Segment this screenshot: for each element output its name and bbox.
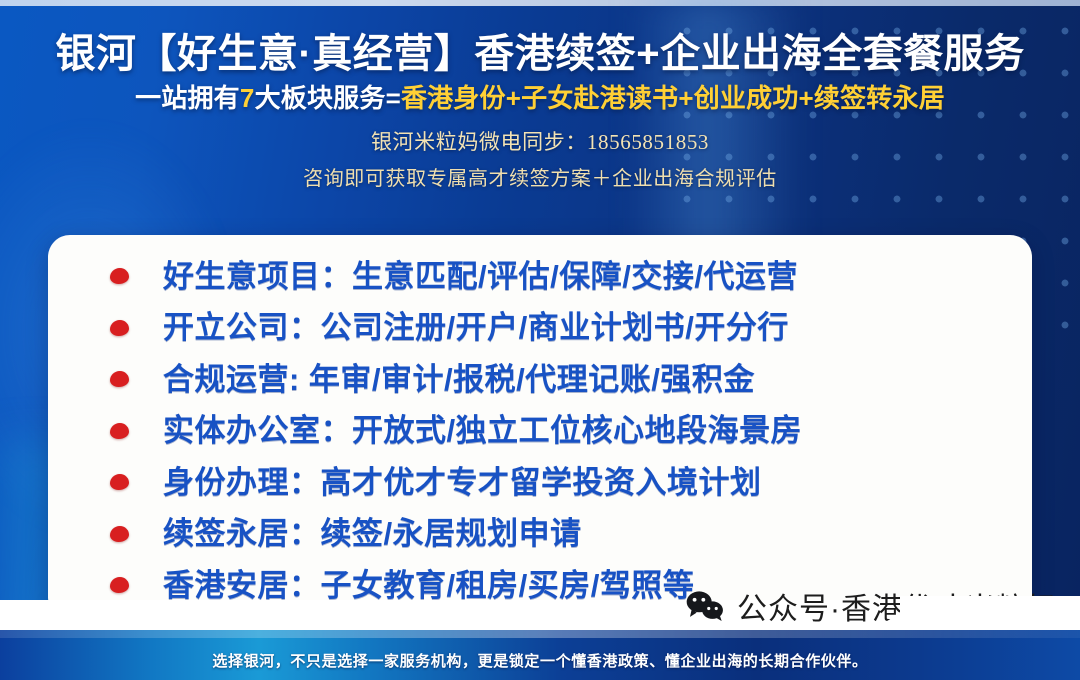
list-item-label: 续签永居：续签/永居规划申请 (163, 518, 582, 549)
list-item-label: 好生意项目：生意匹配/评估/保障/交接/代运营 (163, 261, 798, 292)
bullet-icon (110, 320, 129, 336)
list-item-label: 合规运营: 年审/审计/报税/代理记账/强积金 (163, 364, 755, 395)
bullet-icon (110, 268, 129, 284)
footer-tagline: 选择银河，不只是选择一家服务机构，更是锁定一个懂香港政策、懂企业出海的长期合作伙… (0, 630, 1080, 680)
footer-blue-band: 选择银河，不只是选择一家服务机构，更是锁定一个懂香港政策、懂企业出海的长期合作伙… (0, 630, 1080, 680)
bullet-icon (110, 423, 129, 439)
list-item: 开立公司：公司注册/开户/商业计划书/开分行 (48, 303, 1032, 353)
list-item-label: 开立公司：公司注册/开户/商业计划书/开分行 (163, 312, 789, 343)
list-item: 好生意项目：生意匹配/评估/保障/交接/代运营 (48, 251, 1032, 301)
subtitle-count: 7 (240, 83, 255, 113)
subtitle-benefits: 香港身份+子女赴港读书+创业成功+续签转永居 (401, 83, 945, 113)
bullet-icon (110, 474, 129, 490)
wechat-icon (685, 591, 725, 621)
list-item-label: 实体办公室：开放式/独立工位核心地段海景房 (163, 415, 802, 446)
footer-corner-curve (900, 596, 1080, 630)
page-title: 银河【好生意·真经营】香港续签+企业出海全套餐服务 (0, 32, 1080, 77)
list-item: 身份办理：高才优才专才留学投资入境计划 (48, 457, 1032, 507)
bullet-icon (110, 526, 129, 542)
list-item-label: 香港安居：子女教育/租房/买房/驾照等 (163, 570, 694, 601)
offer-line: 咨询即可获取专属高才续签方案＋企业出海合规评估 (0, 162, 1080, 191)
footer-tagline-text: 选择银河，不只是选择一家服务机构，更是锁定一个懂香港政策、懂企业出海的长期合作伙… (212, 650, 867, 671)
bullet-icon (110, 577, 129, 593)
list-item: 合规运营: 年审/审计/报税/代理记账/强积金 (48, 354, 1032, 404)
list-item: 实体办公室：开放式/独立工位核心地段海景房 (48, 406, 1032, 456)
subtitle: 一站拥有7大板块服务=香港身份+子女赴港读书+创业成功+续签转永居 (0, 84, 1080, 114)
subtitle-part-2: 大板块服务= (255, 83, 401, 113)
list-item-label: 身份办理：高才优才专才留学投资入境计划 (163, 467, 762, 498)
list-item: 续签永居：续签/永居规划申请 (48, 509, 1032, 559)
bullet-icon (110, 371, 129, 387)
header: 银河【好生意·真经营】香港续签+企业出海全套餐服务 一站拥有7大板块服务=香港身… (0, 0, 1080, 191)
service-list-card: 好生意项目：生意匹配/评估/保障/交接/代运营 开立公司：公司注册/开户/商业计… (48, 235, 1032, 620)
subtitle-part-1: 一站拥有 (135, 83, 240, 113)
contact-line: 银河米粒妈微电同步：18565851853 (0, 126, 1080, 156)
